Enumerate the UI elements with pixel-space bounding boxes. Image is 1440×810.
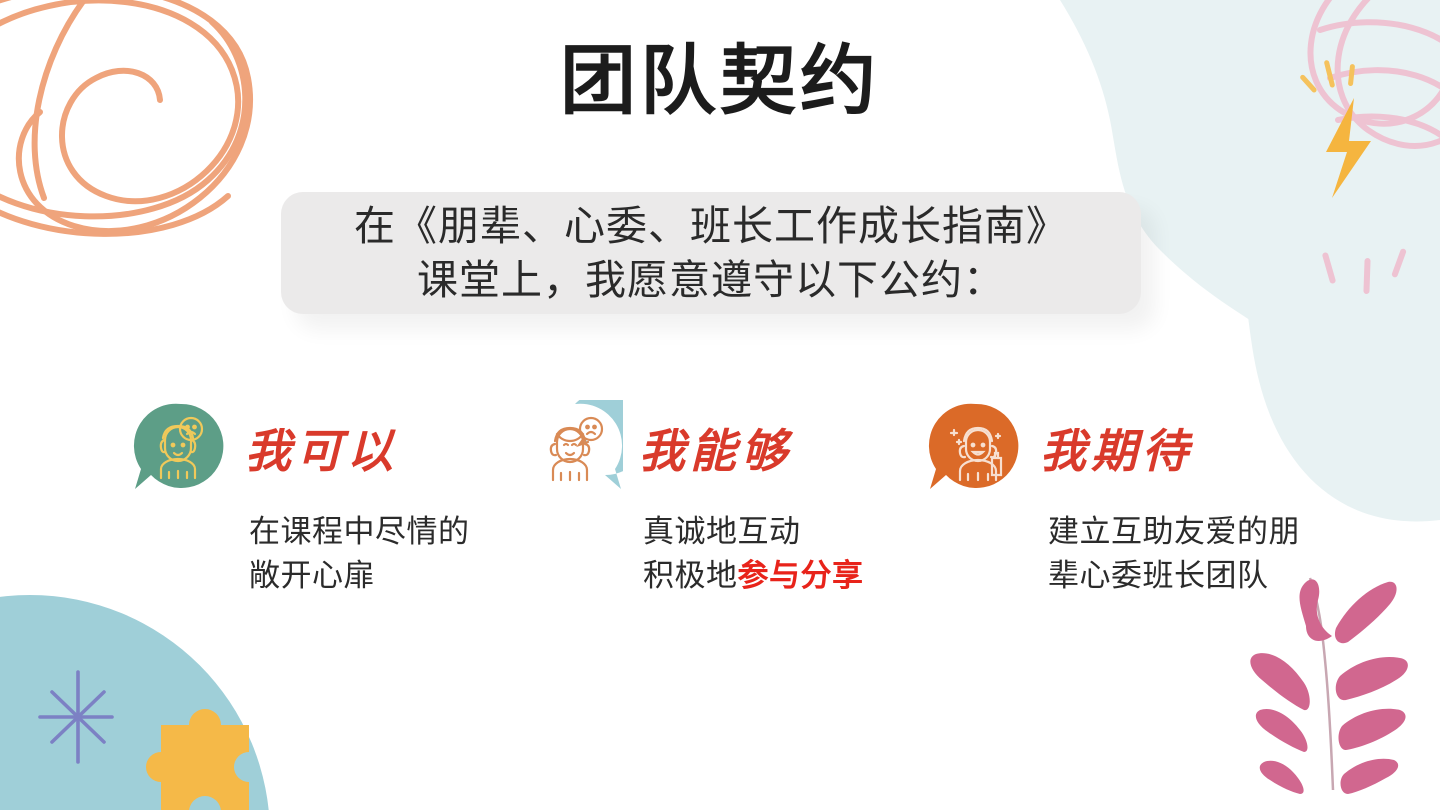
speech-bubble-person-blue-icon (527, 400, 623, 496)
pledge-body-1-line-1: 在课程中尽情的 (249, 510, 533, 554)
pledge-body-2-line-2-plain: 积极地 (643, 558, 738, 593)
pledge-body-2: 真诚地互动 积极地参与分享 (643, 510, 927, 598)
pledge-column-3: 我期待 建立互助友爱的朋 辈心委班长团队 (928, 398, 1348, 598)
pledge-body-1: 在课程中尽情的 敞开心扉 (249, 510, 533, 598)
page-title: 团队契约 (0, 38, 1440, 128)
pledge-header-1: 我可以 (133, 398, 533, 498)
pledge-body-2-highlight: 参与分享 (738, 558, 864, 593)
pledge-column-1: 我可以 在课程中尽情的 敞开心扉 (133, 398, 533, 598)
pledge-header-2: 我能够 (527, 398, 927, 498)
pledge-body-3: 建立互助友爱的朋 辈心委班长团队 (1048, 510, 1348, 598)
pledge-header-3: 我期待 (928, 398, 1348, 498)
pledge-heading-3: 我期待 (1040, 415, 1193, 481)
slide-root: 团队契约 在《朋辈、心委、班长工作成长指南》 课堂上，我愿意遵守以下公约： (0, 0, 1440, 810)
pledge-body-2-line-2: 积极地参与分享 (643, 554, 927, 598)
pledge-heading-2: 我能够 (639, 415, 792, 481)
pledge-columns: 我可以 在课程中尽情的 敞开心扉 (0, 398, 1440, 628)
speech-bubble-person-orange-icon (928, 400, 1024, 496)
subtitle-line-1: 在《朋辈、心委、班长工作成长指南》 (354, 199, 1068, 253)
pledge-body-3-line-2: 辈心委班长团队 (1048, 554, 1348, 598)
pledge-body-3-line-1: 建立互助友爱的朋 (1048, 510, 1348, 554)
pledge-body-1-line-2: 敞开心扉 (249, 554, 533, 598)
pledge-body-2-line-1: 真诚地互动 (643, 510, 927, 554)
speech-bubble-person-green-icon (133, 400, 229, 496)
puzzle-piece-icon (146, 709, 249, 810)
pink-dashes (1322, 248, 1407, 294)
subtitle-panel: 在《朋辈、心委、班长工作成长指南》 课堂上，我愿意遵守以下公约： (281, 192, 1141, 314)
subtitle-line-2: 课堂上，我愿意遵守以下公约： (417, 253, 1005, 307)
sparkle-star-icon (40, 672, 112, 762)
pledge-column-2: 我能够 真诚地互动 积极地参与分享 (527, 398, 927, 598)
pledge-heading-1: 我可以 (245, 415, 398, 481)
